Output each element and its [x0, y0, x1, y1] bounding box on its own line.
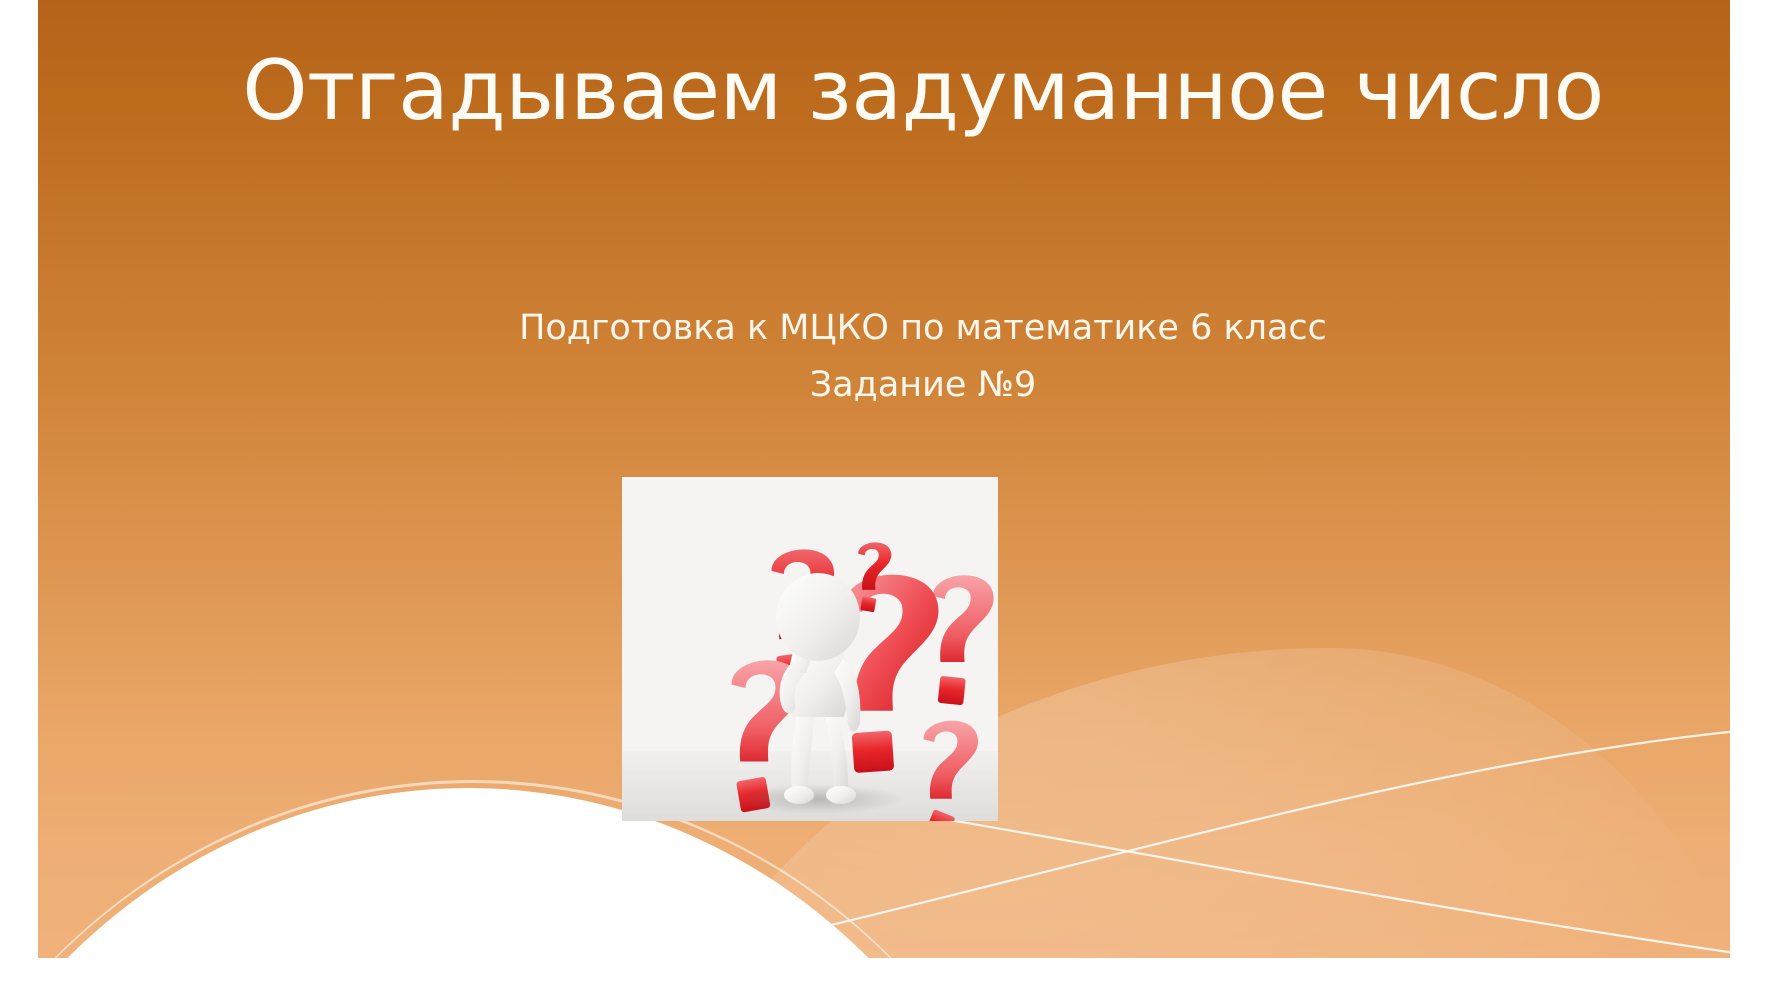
question-mark-icon	[622, 477, 998, 821]
slide-title: Отгадываем задуманное число	[188, 36, 1658, 146]
thinking-person-icon	[776, 573, 860, 804]
presentation-slide: Отгадываем задуманное число Подготовка к…	[0, 0, 1770, 996]
subtitle-line-2: Задание №9	[188, 357, 1658, 414]
slide-background: Отгадываем задуманное число Подготовка к…	[38, 0, 1730, 958]
slide-subtitle: Подготовка к МЦКО по математике 6 класс …	[188, 300, 1658, 413]
subtitle-line-1: Подготовка к МЦКО по математике 6 класс	[188, 300, 1658, 357]
slide-image-question-marks	[622, 477, 998, 821]
